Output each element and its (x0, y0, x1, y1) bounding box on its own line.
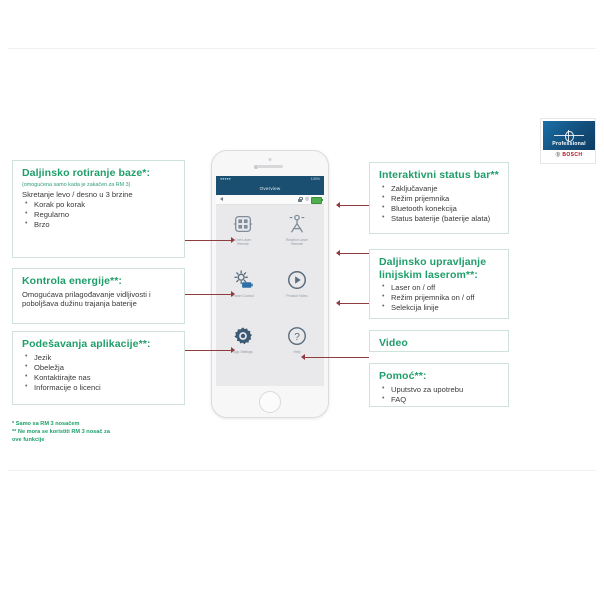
bosch-brand-text: BOSCH (562, 152, 582, 158)
callout-app-settings: Podešavanja aplikacije**: Jezik Obeležja… (12, 331, 185, 405)
help-icon: ? (286, 325, 308, 347)
bottom-divider (8, 470, 596, 471)
app-tile-app-settings[interactable]: App Settings (216, 318, 270, 372)
callout-title: Podešavanja aplikacije**: (22, 338, 176, 351)
bosch-logo: Professional ⓑBOSCH (540, 118, 596, 164)
connector-energy (185, 294, 233, 295)
callout-help: Pomoć**: Uputstvo za upotrebu FAQ (369, 363, 509, 407)
bosch-professional-label: Professional (543, 141, 595, 147)
home-button[interactable] (259, 391, 281, 413)
callout-interactive-status-bar: Interaktivni status bar** Zaključavanje … (369, 162, 509, 234)
app-tile-line-laser-remote[interactable]: Line Laser Remote (216, 206, 270, 260)
footnote-double-star: ** Ne mora se koristiti RM 3 nosač za ov… (12, 428, 212, 444)
list-item: Informacije o licenci (22, 383, 176, 393)
bosch-wordmark: ⓑBOSCH (543, 152, 595, 158)
list-item: FAQ (379, 395, 500, 405)
connector-rotate-arrow (231, 237, 235, 243)
connector-video (340, 303, 369, 304)
list-item: Režim prijemnika (379, 194, 500, 204)
callout-video: Video (369, 330, 509, 352)
list-item: Režim prijemnika on / off (379, 293, 500, 303)
callout-remote-base-rotation: Daljinsko rotiranje baze*: (omogućena sa… (12, 160, 185, 258)
app-tile-power-control[interactable]: Power Control (216, 262, 270, 316)
app-tile-rotation-laser-remote[interactable]: Rotation Laser Remote (270, 206, 324, 260)
connector-help-arrow (301, 354, 305, 360)
callout-title: Video (379, 337, 500, 350)
callout-lead: Skretanje levo / desno u 3 brzine (22, 190, 176, 200)
callout-title: Pomoć**: (379, 370, 500, 383)
callout-power-control: Kontrola energije**: Omogućava prilagođa… (12, 268, 185, 324)
list-item: Status baterije (baterije alata) (379, 214, 500, 224)
power-control-icon (232, 269, 254, 291)
list-item: Jezik (22, 353, 176, 363)
app-tile-label: Product Video (272, 294, 322, 298)
list-item: Brzo (22, 220, 176, 230)
list-item: Obeležja (22, 363, 176, 373)
list-item: Uputstvo za upotrebu (379, 385, 500, 395)
svg-text:?: ? (294, 332, 300, 343)
list-item: Regularno (22, 210, 176, 220)
connector-statusbar (340, 205, 369, 206)
app-status-toolbar[interactable]: ◎ (216, 195, 324, 205)
app-tile-label: Rotation Laser Remote (272, 238, 322, 247)
earpiece-speaker (257, 165, 283, 168)
list-item: Zaključavanje (379, 184, 500, 194)
app-settings-icon (232, 325, 254, 347)
back-arrow-icon[interactable] (220, 197, 223, 201)
list-item: Laser on / off (379, 283, 500, 293)
proximity-sensor-icon (269, 158, 272, 161)
list-item: Bluetooth konekcija (379, 204, 500, 214)
battery-icon[interactable] (311, 197, 322, 204)
connector-settings-arrow (231, 347, 235, 353)
callout-list: Korak po korak Regularno Brzo (22, 200, 176, 230)
app-tile-label: Help (272, 350, 322, 354)
list-item: Korak po korak (22, 200, 176, 210)
os-status-bar: ●●●●● 100% (216, 176, 324, 183)
list-item: Selekcija linije (379, 303, 500, 313)
connector-statusbar-arrow (336, 202, 340, 208)
phone-screen: ●●●●● 100% Overview ◎ (216, 176, 324, 386)
phone-mockup: ●●●●● 100% Overview ◎ (211, 150, 329, 418)
connector-settings (185, 350, 233, 351)
connector-energy-arrow (231, 291, 235, 297)
app-title-bar: Overview (216, 183, 324, 195)
callout-list: Zaključavanje Režim prijemnika Bluetooth… (379, 184, 500, 224)
battery-percent: 100% (311, 177, 320, 182)
lock-icon[interactable] (298, 197, 302, 202)
list-item: Kontaktirajte nas (22, 373, 176, 383)
connector-video-arrow (336, 300, 340, 306)
callout-title: Daljinsko upravljanje linijskim laserom*… (379, 256, 500, 281)
app-title: Overview (216, 186, 324, 191)
callout-subtitle: (omogućena samo kada je zakačen za RM 3) (22, 182, 176, 189)
callout-list: Laser on / off Režim prijemnika on / off… (379, 283, 500, 313)
bosch-symbol-icon: ⓑ (556, 152, 561, 157)
app-tile-product-video[interactable]: Product Video (270, 262, 324, 316)
line-laser-remote-icon (232, 213, 254, 235)
bosch-anchor-icon (554, 130, 584, 141)
connector-remote-arrow (336, 250, 340, 256)
footnotes: * Samo sa RM 3 nosačem ** Ne mora se kor… (12, 420, 212, 444)
callout-title: Kontrola energije**: (22, 275, 176, 288)
bosch-professional-badge: Professional (543, 121, 595, 150)
signal-icon: ●●●●● (220, 177, 231, 182)
rotation-laser-remote-icon (286, 213, 308, 235)
footnote-single-star: * Samo sa RM 3 nosačem (12, 420, 212, 428)
connector-help (305, 357, 369, 358)
callout-title: Interaktivni status bar** (379, 169, 500, 182)
callout-title: Daljinsko rotiranje baze*: (22, 167, 176, 180)
callout-lead: Omogućava prilagođavanje vidljivosti i p… (22, 290, 176, 309)
product-video-icon (286, 269, 308, 291)
connector-remote (340, 253, 369, 254)
bluetooth-icon[interactable]: ◎ (305, 197, 309, 202)
slide-canvas: Daljinsko rotiranje baze*: (omogućena sa… (0, 0, 604, 604)
callout-list: Jezik Obeležja Kontaktirajte nas Informa… (22, 353, 176, 393)
connector-rotate (185, 240, 233, 241)
callout-list: Uputstvo za upotrebu FAQ (379, 385, 500, 405)
callout-line-laser-remote: Daljinsko upravljanje linijskim laserom*… (369, 249, 509, 319)
top-divider (8, 48, 596, 49)
app-tile-help[interactable]: ? Help (270, 318, 324, 372)
